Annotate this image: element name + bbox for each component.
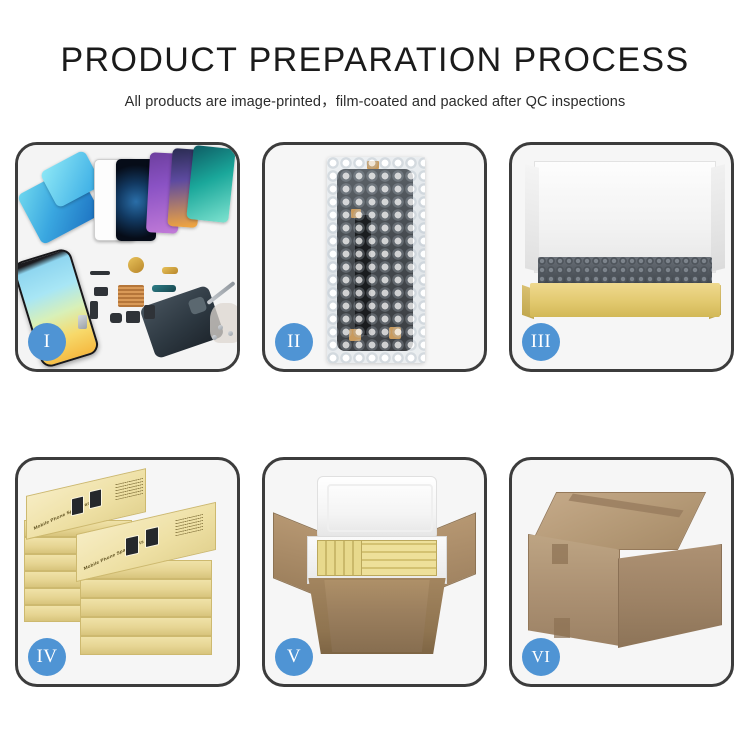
sealed-carton-panel: VI [512, 460, 731, 684]
step-badge: II [275, 323, 313, 361]
process-step-2: II [262, 142, 487, 372]
speaker-icon [128, 257, 144, 273]
sim-tray-icon [78, 315, 87, 329]
carton-front-face [321, 580, 433, 652]
box-label: Mobile Phone Spare Parts [33, 499, 94, 531]
product-window-icon [89, 488, 102, 509]
camera-module-icon [126, 311, 140, 323]
process-step-4: Mobile Phone Spare Parts Mobile Phone Sp… [15, 457, 240, 687]
component-icon [90, 271, 110, 275]
tape-icon [554, 618, 570, 638]
product-window-icon [145, 526, 159, 548]
vibrator-icon [110, 313, 122, 323]
product-preparation-infographic: PRODUCT PREPARATION PROCESS All products… [0, 0, 750, 750]
foam-box-panel: III [512, 145, 731, 369]
step-badge: III [522, 323, 560, 361]
teal-display-icon [186, 145, 236, 223]
screw-icon [218, 325, 223, 330]
process-step-3: III [509, 142, 734, 372]
process-step-grid: I II [15, 142, 735, 687]
step-badge: VI [522, 638, 560, 676]
bubble-wrapped-units-icon [538, 257, 712, 285]
tape-icon [367, 161, 379, 169]
step-badge: V [275, 638, 313, 676]
phone-parts-panel: I [18, 145, 237, 369]
tape-icon [351, 209, 361, 218]
kraft-box-base-icon [530, 283, 720, 317]
screw-icon [212, 335, 217, 340]
screw-icon [228, 331, 233, 336]
bubble-wrap-panel: II [265, 145, 484, 369]
stacked-boxes-panel: Mobile Phone Spare Parts Mobile Phone Sp… [18, 460, 237, 684]
flex-cable-icon [152, 285, 176, 292]
product-window-icon [125, 535, 139, 557]
process-step-1: I [15, 142, 240, 372]
ic-chip-icon [94, 287, 108, 296]
stacked-box-layer [80, 598, 212, 617]
bubble-wrap-bag-icon [327, 157, 425, 363]
shield-mesh-icon [118, 285, 144, 307]
tape-icon [552, 544, 568, 564]
step-badge: I [28, 323, 66, 361]
carton-front-face [528, 534, 620, 646]
flex-connector-icon [162, 267, 178, 274]
page-title: PRODUCT PREPARATION PROCESS [0, 40, 750, 80]
tape-icon [389, 327, 401, 339]
carton-side-face [618, 544, 722, 648]
process-step-5: V [262, 457, 487, 687]
wrapped-screen-icon [337, 169, 413, 351]
product-window-icon [71, 495, 84, 516]
battery-connector-icon [144, 305, 155, 319]
stacked-box-layer [80, 579, 212, 598]
styrofoam-lid-icon [317, 476, 437, 540]
bracket-icon [90, 301, 98, 319]
box-spec-text [175, 514, 203, 536]
flex-cable-icon [355, 215, 371, 335]
stacked-box-layer [80, 636, 212, 655]
page-subtitle: All products are image-printed，film-coat… [0, 90, 750, 111]
header: PRODUCT PREPARATION PROCESS All products… [0, 40, 750, 111]
stacked-box-layer [80, 617, 212, 636]
yellow-boxes-icon [361, 540, 437, 576]
styrofoam-carton-panel: V [265, 460, 484, 684]
step-badge: IV [28, 638, 66, 676]
tape-icon [349, 329, 361, 341]
box-spec-text [115, 478, 143, 500]
process-step-6: VI [509, 457, 734, 687]
